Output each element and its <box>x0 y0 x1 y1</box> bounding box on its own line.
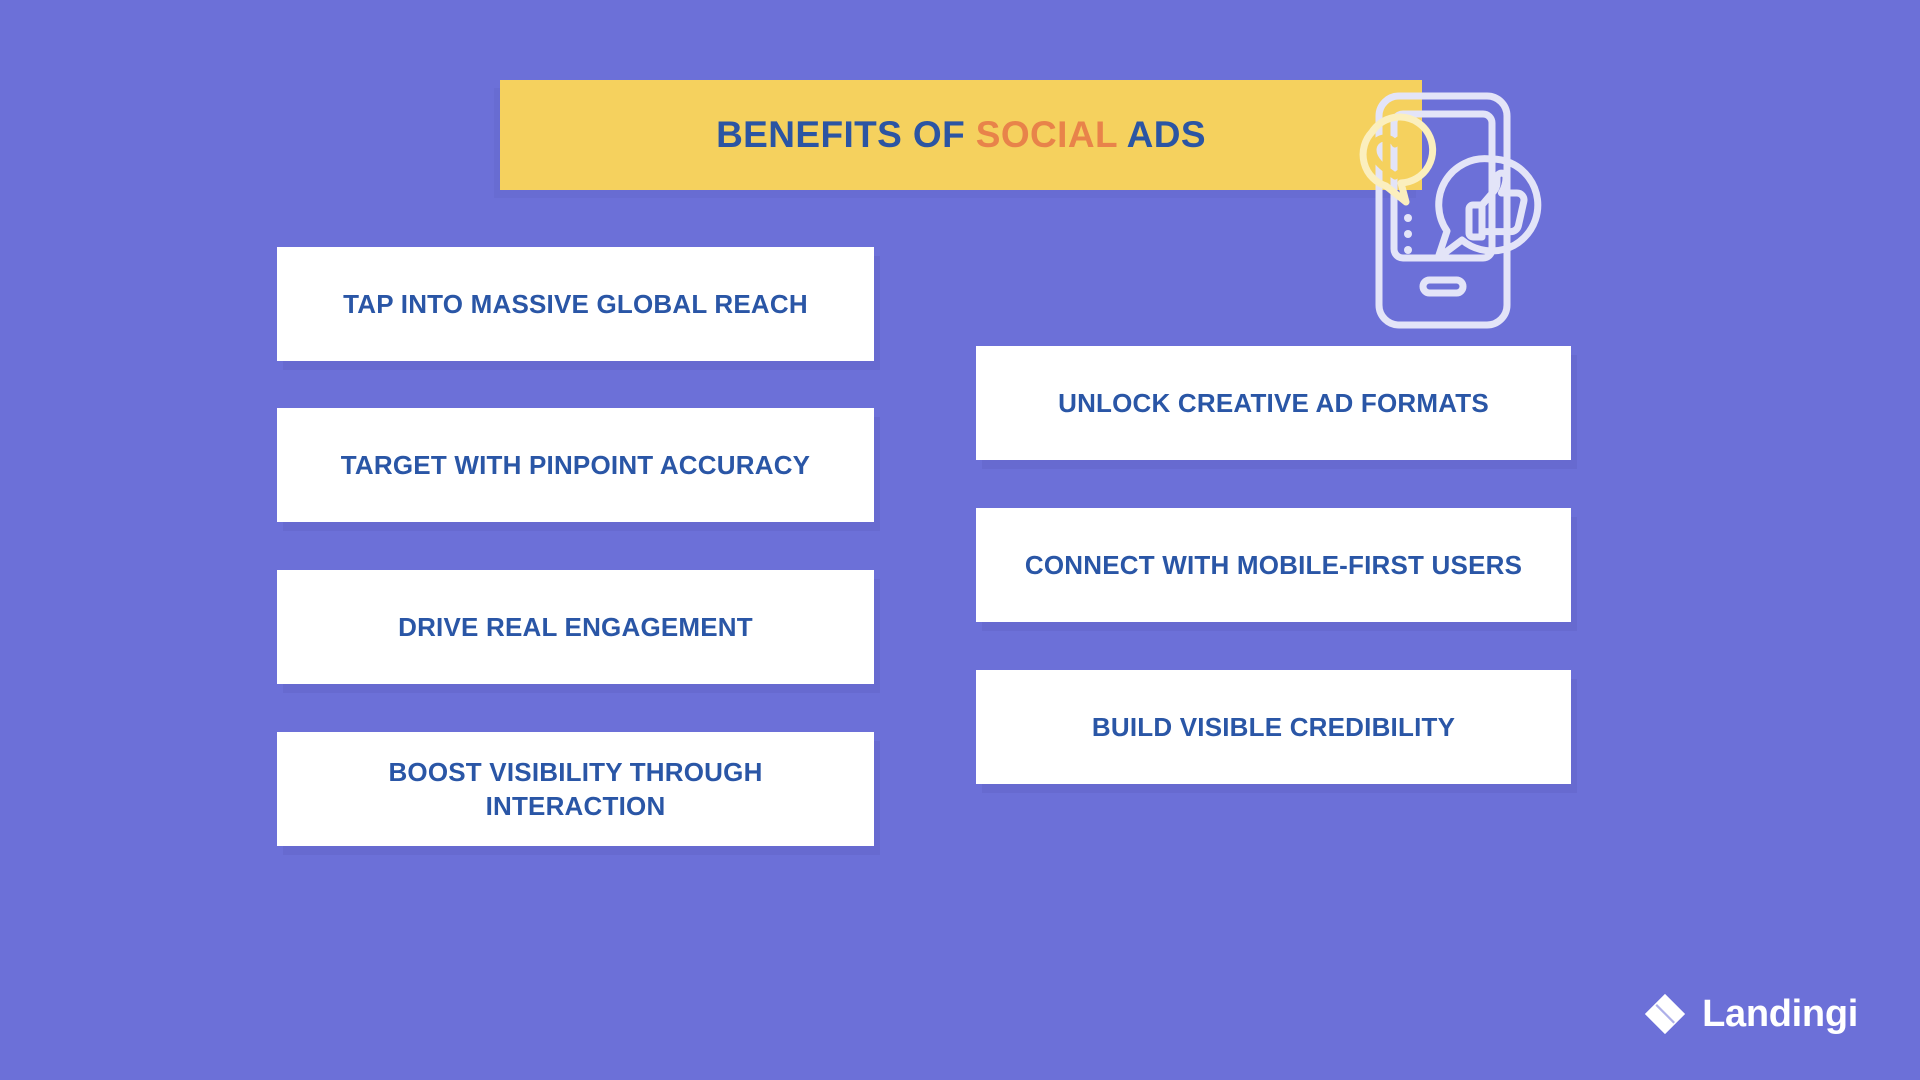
brand-wordmark: Landingi <box>1702 995 1858 1033</box>
benefit-card-label: CONNECT WITH MOBILE-FIRST USERS <box>1003 548 1544 582</box>
benefit-card[interactable]: UNLOCK CREATIVE AD FORMATS <box>976 346 1571 460</box>
title-banner: BENEFITS OF SOCIAL ADS <box>500 80 1422 190</box>
slide-canvas: BENEFITS OF SOCIAL ADS <box>0 0 1920 1080</box>
benefit-card-label: BUILD VISIBLE CREDIBILITY <box>1070 710 1477 744</box>
benefit-card[interactable]: BOOST VISIBILITY THROUGH INTERACTION <box>277 732 874 846</box>
benefit-card[interactable]: TARGET WITH PINPOINT ACCURACY <box>277 408 874 522</box>
benefit-card-label: DRIVE REAL ENGAGEMENT <box>376 610 775 644</box>
benefit-card[interactable]: CONNECT WITH MOBILE-FIRST USERS <box>976 508 1571 622</box>
benefit-card[interactable]: BUILD VISIBLE CREDIBILITY <box>976 670 1571 784</box>
title-highlight: SOCIAL <box>976 114 1118 155</box>
benefit-card[interactable]: DRIVE REAL ENGAGEMENT <box>277 570 874 684</box>
benefit-card-label: BOOST VISIBILITY THROUGH INTERACTION <box>277 755 874 824</box>
benefit-card-label: UNLOCK CREATIVE AD FORMATS <box>1036 386 1511 420</box>
landingi-diamond-icon <box>1643 992 1687 1036</box>
title-part-1: BENEFITS OF <box>716 114 976 155</box>
landingi-logo[interactable]: Landingi <box>1643 992 1858 1036</box>
benefit-card[interactable]: TAP INTO MASSIVE GLOBAL REACH <box>277 247 874 361</box>
benefit-card-label: TARGET WITH PINPOINT ACCURACY <box>319 448 832 482</box>
thumbs-up-icon <box>1469 173 1524 237</box>
title-part-2: ADS <box>1117 114 1206 155</box>
page-title: BENEFITS OF SOCIAL ADS <box>716 114 1206 156</box>
thumbs-up-speech-bubble <box>1438 159 1538 258</box>
menu-dots-icon <box>1404 214 1412 254</box>
benefit-card-label: TAP INTO MASSIVE GLOBAL REACH <box>321 287 830 321</box>
